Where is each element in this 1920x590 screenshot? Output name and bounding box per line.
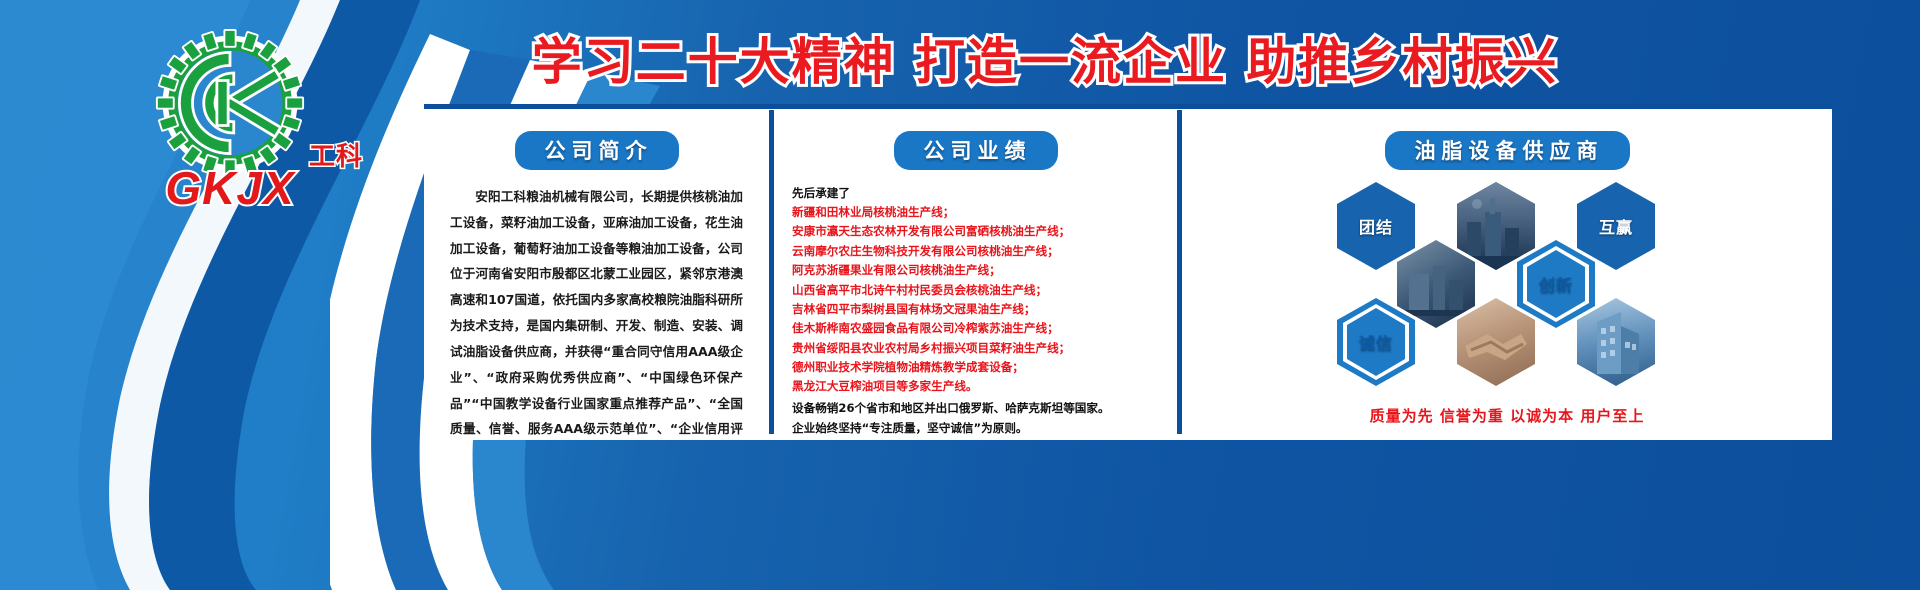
supplier-slogan: 质量为先 信誉为重 以诚为本 用户至上 — [1182, 405, 1832, 426]
list-item: 德州职业技术学院植物油精炼教学成套设备； — [792, 358, 1177, 377]
hex-tuanjie: 团结 — [1337, 182, 1415, 270]
performance-list: 先后承建了 新疆和田林业局核桃油生产线； 安康市瀛天生态农林开发有限公司富硒核桃… — [792, 184, 1177, 439]
panel-2-title: 公司业绩 — [894, 131, 1058, 170]
factory-glyph-icon — [1457, 182, 1535, 270]
list-item: 新疆和田林业局核桃油生产线； — [792, 203, 1177, 222]
company-intro-body: 安阳工科粮油机械有限公司，长期提供核桃油加工设备，菜籽油加工设备，亚麻油加工设备… — [450, 184, 743, 440]
list-item: 贵州省绥阳县农业农村局乡村振兴项目菜籽油生产线； — [792, 339, 1177, 358]
factory-photo-icon — [1457, 182, 1535, 270]
hex-huying: 互赢 — [1577, 182, 1655, 270]
logo-latin-name: GKJX — [165, 161, 294, 215]
list-item: 吉林省四平市梨树县国有林场文冠果油生产线； — [792, 300, 1177, 319]
performance-footer-line: 企业始终坚持“专注质量，坚守诚信”为原则。 — [792, 419, 1177, 439]
panel-company-intro: 公司简介 安阳工科粮油机械有限公司，长期提供核桃油加工设备，菜籽油加工设备，亚麻… — [424, 109, 769, 440]
panel-1-header: 公司简介 — [424, 109, 769, 170]
machine-glyph-icon — [1397, 240, 1475, 328]
list-item: 安康市瀛天生态农林开发有限公司富硒核桃油生产线； — [792, 222, 1177, 241]
gear-monogram-icon — [155, 28, 305, 178]
performance-footer-line: 设备畅销26个省市和地区并出口俄罗斯、哈萨克斯坦等国家。 — [792, 399, 1177, 419]
hex-label: 创新 — [1539, 272, 1573, 296]
list-item: 山西省高平市北诗午村村民委员会核桃油生产线； — [792, 281, 1177, 300]
logo-cn-name: 工科 — [309, 136, 363, 173]
content-frame: 公司简介 安阳工科粮油机械有限公司，长期提供核桃油加工设备，菜籽油加工设备，亚麻… — [424, 104, 1832, 440]
panel-3-header: 油脂设备供应商 — [1182, 109, 1832, 170]
hex-building-photo — [1577, 298, 1655, 386]
hex-label: 互赢 — [1599, 214, 1633, 238]
list-item: 阿克苏浙疆果业有限公司核桃油生产线； — [792, 261, 1177, 280]
hex-label: 诚信 — [1359, 330, 1393, 354]
performance-lead: 先后承建了 — [792, 184, 1177, 203]
list-item: 佳木斯桦南农盛园食品有限公司冷榨紫苏油生产线； — [792, 319, 1177, 338]
hex-label: 团结 — [1359, 214, 1393, 238]
panel-company-performance: 公司业绩 先后承建了 新疆和田林业局核桃油生产线； 安康市瀛天生态农林开发有限公… — [774, 109, 1177, 440]
panel-supplier: 油脂设备供应商 团结 互赢 — [1182, 109, 1832, 440]
hex-factory-photo — [1457, 182, 1535, 270]
building-glyph-icon — [1577, 298, 1655, 386]
building-photo-icon — [1577, 298, 1655, 386]
machinery-photo-icon — [1397, 240, 1475, 328]
panel-2-header: 公司业绩 — [774, 109, 1177, 170]
handshake-glyph-icon — [1457, 298, 1535, 386]
hex-chengxin: 诚信 — [1337, 298, 1415, 386]
page-title: 学习二十大精神 打造一流企业 助推乡村振兴 — [430, 22, 1660, 94]
panel-3-title: 油脂设备供应商 — [1385, 131, 1630, 170]
list-item: 黑龙江大豆榨油项目等多家生产线。 — [792, 377, 1177, 396]
list-item: 云南摩尔农庄生物科技开发有限公司核桃油生产线； — [792, 242, 1177, 261]
hex-chuangxin: 创新 — [1517, 240, 1595, 328]
company-logo: 工科 GKJX — [95, 28, 365, 203]
poster-canvas: 工科 GKJX 学习二十大精神 打造一流企业 助推乡村振兴 公司简介 安阳工科粮… — [0, 0, 1920, 590]
hexagon-cluster: 团结 互赢 — [1182, 174, 1832, 380]
handshake-photo-icon — [1457, 298, 1535, 386]
hex-machinery-photo — [1397, 240, 1475, 328]
hex-handshake-photo — [1457, 298, 1535, 386]
panel-1-title: 公司简介 — [515, 131, 679, 170]
